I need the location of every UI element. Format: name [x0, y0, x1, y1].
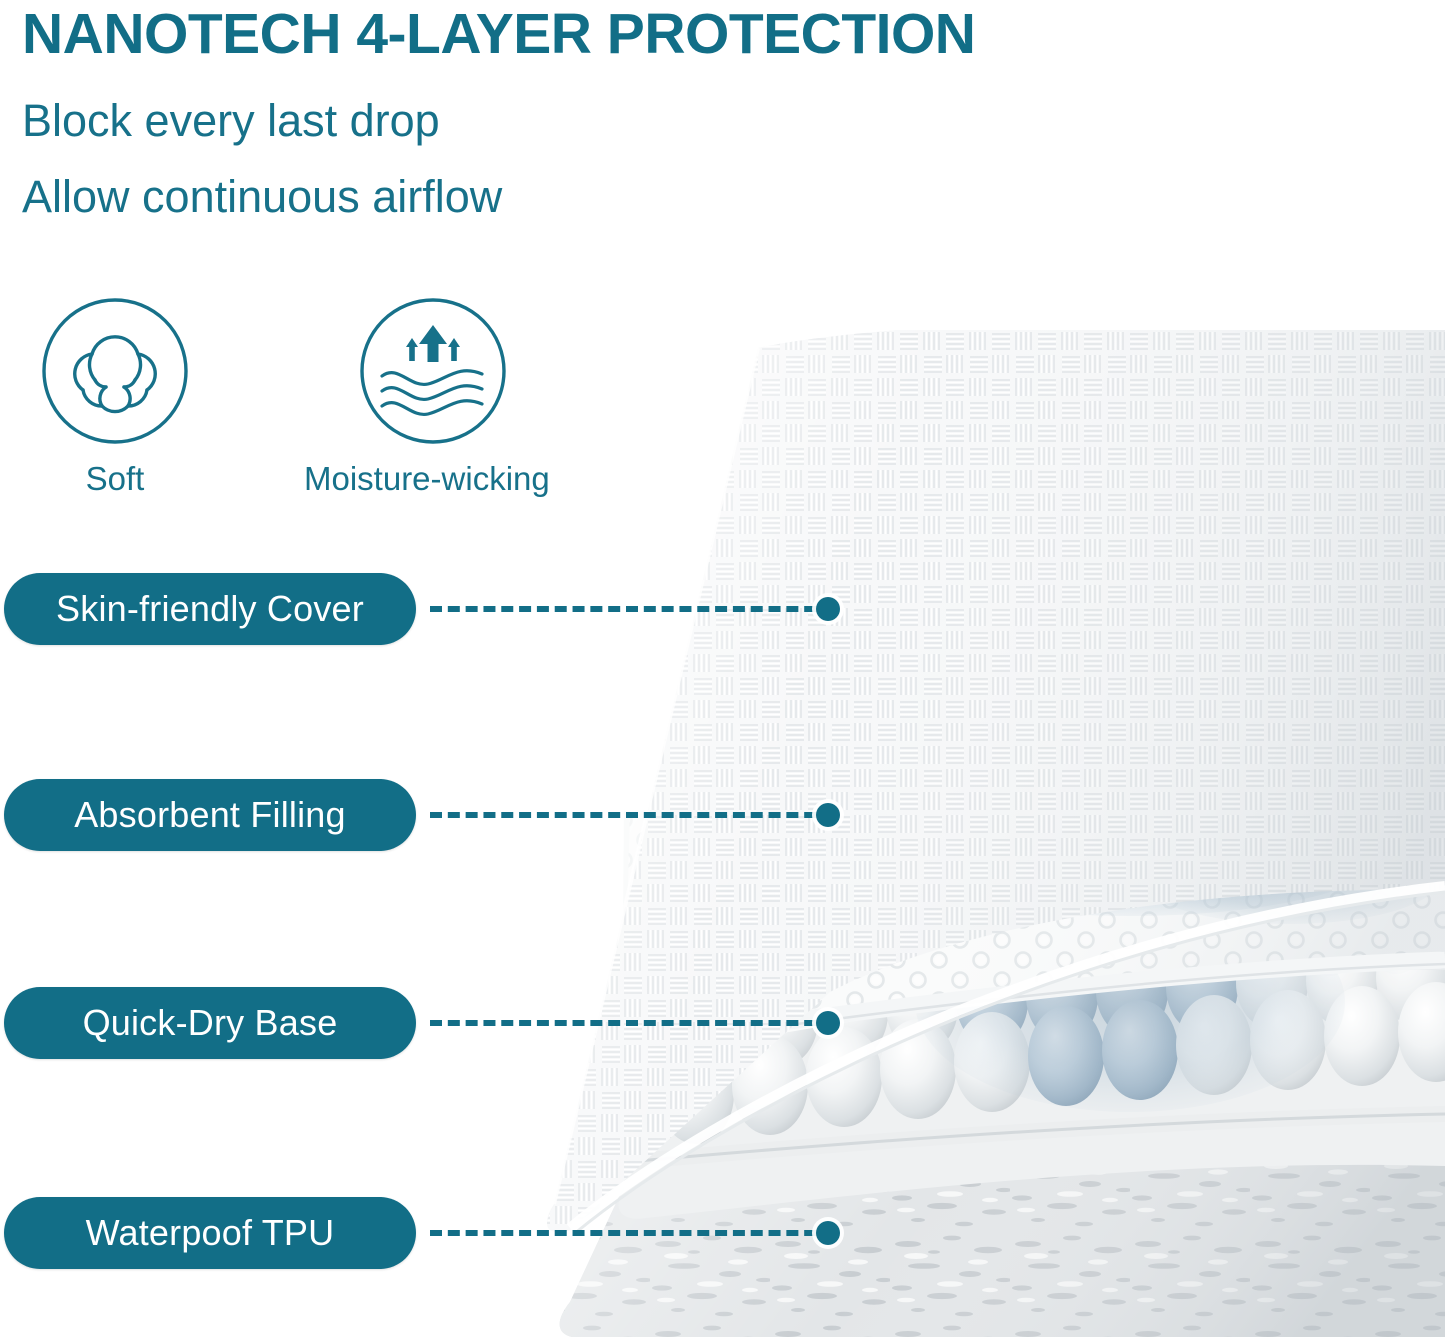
infographic-canvas: NANOTECH 4-LAYER PROTECTION Block every … [0, 0, 1445, 1337]
cotton-ball-icon [40, 296, 190, 446]
dashed-leader-line [430, 606, 834, 612]
page-title: NANOTECH 4-LAYER PROTECTION [22, 4, 1422, 66]
dashed-leader-line [430, 1020, 834, 1026]
leader-dot-icon [816, 803, 840, 827]
leader-dot-icon [816, 1011, 840, 1035]
waves-up-arrows-icon [358, 296, 508, 446]
callout-absorbent-filling: Absorbent Filling [4, 778, 828, 852]
leader [416, 779, 828, 851]
subtitle-line-2: Allow continuous airflow [22, 174, 502, 219]
leader [416, 573, 828, 645]
dashed-leader-line [430, 812, 834, 818]
feature-soft: Soft [20, 296, 210, 498]
callout-skin-friendly-cover: Skin-friendly Cover [4, 572, 828, 646]
callout-label-pill[interactable]: Quick-Dry Base [4, 987, 416, 1059]
leader [416, 987, 828, 1059]
feature-moisture-wicking: Moisture-wicking [338, 296, 528, 498]
subtitle-line-1: Block every last drop [22, 98, 440, 143]
callout-label-pill[interactable]: Waterpoof TPU [4, 1197, 416, 1269]
callout-label-pill[interactable]: Absorbent Filling [4, 779, 416, 851]
leader [416, 1197, 828, 1269]
callout-waterproof-tpu: Waterpoof TPU [4, 1196, 828, 1270]
callout-label-pill[interactable]: Skin-friendly Cover [4, 573, 416, 645]
feature-moisture-wicking-label: Moisture-wicking [304, 460, 528, 498]
feature-soft-label: Soft [20, 460, 210, 498]
callout-quick-dry-base: Quick-Dry Base [4, 986, 828, 1060]
leader-dot-icon [816, 1221, 840, 1245]
leader-dot-icon [816, 597, 840, 621]
dashed-leader-line [430, 1230, 834, 1236]
